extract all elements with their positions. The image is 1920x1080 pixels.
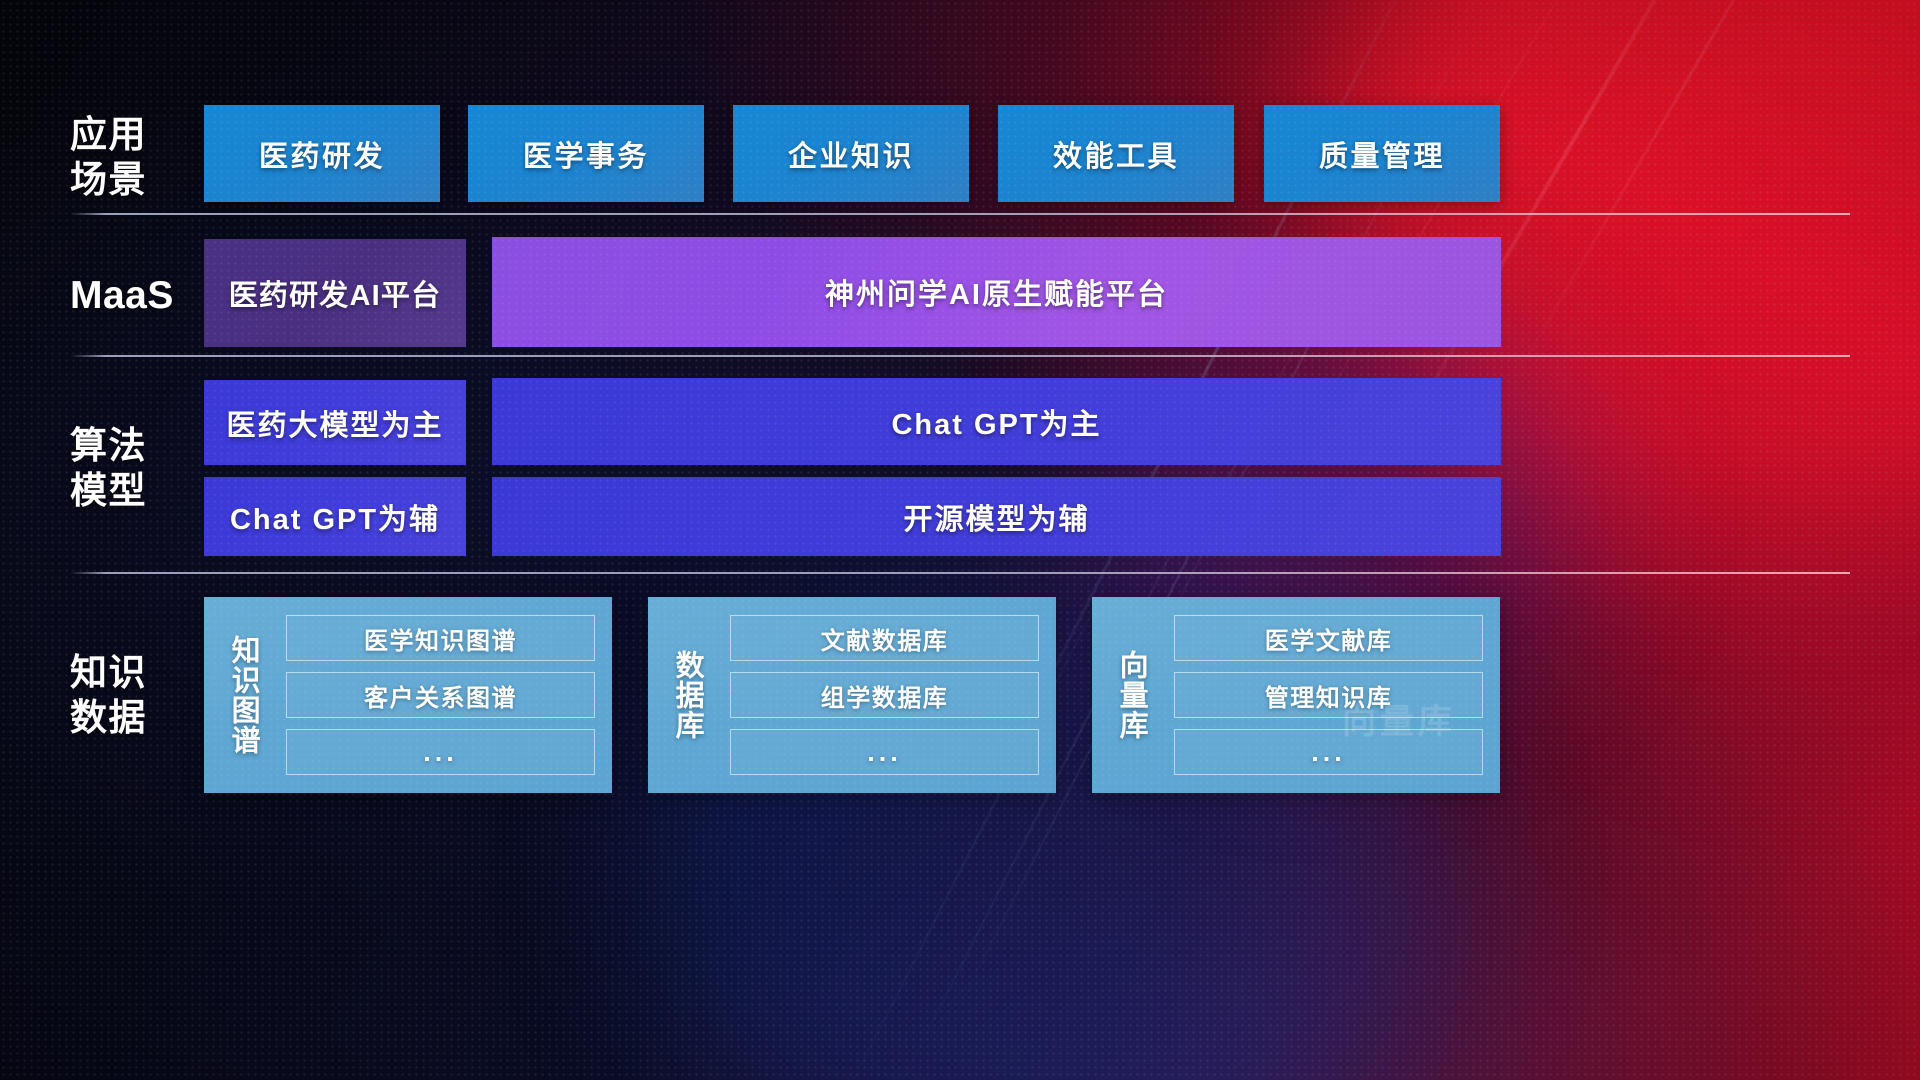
knowledge-panel-3-item-2-label: 管理知识库 [1265, 678, 1393, 713]
knowledge-panel-1-item-3-label: ... [423, 737, 458, 768]
knowledge-panel-2-item-3[interactable]: ... [730, 729, 1039, 775]
scenario-tile-1-label: 医药研发 [259, 133, 385, 175]
scenario-tile-5[interactable]: 质量管理 [1264, 105, 1500, 202]
maas-right-tile[interactable]: 神州问学AI原生赋能平台 [492, 237, 1501, 347]
knowledge-panel-vector-store[interactable]: 向量库 医学文献库 管理知识库 ... 向量库 [1092, 597, 1500, 793]
algorithm-right-tile-2-label: 开源模型为辅 [903, 496, 1089, 538]
algorithm-right-tile-1-label: Chat GPT为主 [891, 401, 1101, 443]
knowledge-panel-1-item-2[interactable]: 客户关系图谱 [286, 672, 595, 718]
maas-left-tile-label: 医药研发AI平台 [229, 272, 442, 314]
knowledge-panel-3-item-1-label: 医学文献库 [1265, 621, 1393, 656]
algorithm-left-tile-2-label: Chat GPT为辅 [230, 496, 440, 538]
knowledge-panel-2-item-2[interactable]: 组学数据库 [730, 672, 1039, 718]
knowledge-panel-1-title: 知识图谱 [204, 597, 282, 793]
knowledge-panel-2-item-2-label: 组学数据库 [821, 678, 949, 713]
algorithm-left-tile-1[interactable]: 医药大模型为主 [204, 380, 466, 465]
maas-left-tile[interactable]: 医药研发AI平台 [204, 239, 466, 347]
knowledge-panel-3-item-2[interactable]: 管理知识库 [1174, 672, 1483, 718]
knowledge-panel-1-item-2-label: 客户关系图谱 [364, 678, 517, 713]
scenario-tile-1[interactable]: 医药研发 [204, 105, 440, 202]
knowledge-panel-3-item-1[interactable]: 医学文献库 [1174, 615, 1483, 661]
scenario-tile-3[interactable]: 企业知识 [733, 105, 969, 202]
knowledge-panel-3-items: 医学文献库 管理知识库 ... [1170, 597, 1500, 793]
knowledge-panel-2-item-3-label: ... [867, 737, 902, 768]
algorithm-left-tile-1-label: 医药大模型为主 [226, 402, 443, 444]
scenario-tile-2[interactable]: 医学事务 [468, 105, 704, 202]
knowledge-panel-1-item-1[interactable]: 医学知识图谱 [286, 615, 595, 661]
scenario-tile-3-label: 企业知识 [788, 133, 914, 175]
row-label-knowledge-data: 知识 数据 [70, 650, 220, 740]
knowledge-panel-3-item-3[interactable]: ... [1174, 729, 1483, 775]
architecture-diagram: 应用 场景 医药研发 医学事务 企业知识 效能工具 质量管理 MaaS 医药研发… [0, 0, 1920, 1080]
scenario-tile-4[interactable]: 效能工具 [998, 105, 1234, 202]
knowledge-panel-1-item-1-label: 医学知识图谱 [364, 621, 517, 656]
row-label-algorithm-model: 算法 模型 [70, 423, 220, 513]
maas-right-tile-label: 神州问学AI原生赋能平台 [825, 271, 1168, 313]
knowledge-panel-2-item-1[interactable]: 文献数据库 [730, 615, 1039, 661]
knowledge-panel-3-item-3-label: ... [1311, 737, 1346, 768]
knowledge-panel-1-item-3[interactable]: ... [286, 729, 595, 775]
scenario-tile-5-label: 质量管理 [1319, 133, 1445, 175]
divider-3 [70, 572, 1850, 574]
knowledge-panel-3-title: 向量库 [1092, 597, 1170, 793]
knowledge-panel-knowledge-graph[interactable]: 知识图谱 医学知识图谱 客户关系图谱 ... [204, 597, 612, 793]
algorithm-left-tile-2[interactable]: Chat GPT为辅 [204, 477, 466, 556]
knowledge-panel-2-title: 数据库 [648, 597, 726, 793]
divider-2 [70, 355, 1850, 357]
knowledge-panel-database[interactable]: 数据库 文献数据库 组学数据库 ... [648, 597, 1056, 793]
knowledge-panel-1-items: 医学知识图谱 客户关系图谱 ... [282, 597, 612, 793]
knowledge-panel-2-item-1-label: 文献数据库 [821, 621, 949, 656]
knowledge-panel-2-items: 文献数据库 组学数据库 ... [726, 597, 1056, 793]
algorithm-right-tile-1[interactable]: Chat GPT为主 [492, 378, 1501, 465]
row-label-application-scenario: 应用 场景 [70, 112, 220, 202]
divider-1 [70, 213, 1850, 215]
scenario-tile-4-label: 效能工具 [1053, 133, 1179, 175]
scenario-tile-2-label: 医学事务 [523, 133, 649, 175]
algorithm-right-tile-2[interactable]: 开源模型为辅 [492, 477, 1501, 556]
row-label-maas: MaaS [70, 272, 220, 320]
